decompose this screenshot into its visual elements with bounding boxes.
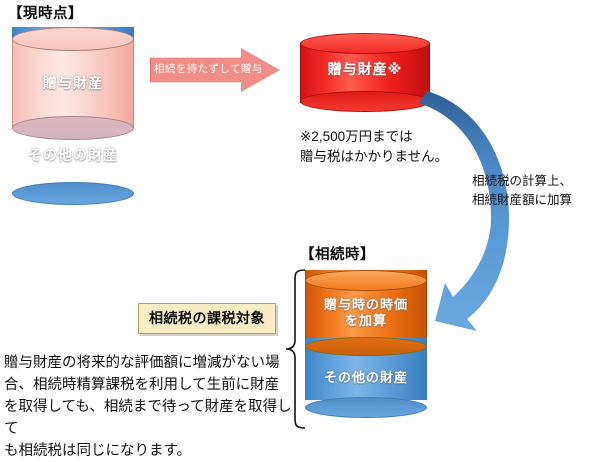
- cylinder-inheritance-divider-ellipse: [305, 337, 427, 356]
- arrow-gift-label: 相続を待たずして贈与: [154, 61, 246, 76]
- heading-at-inheritance: 【相続時】: [300, 243, 375, 264]
- cylinder-current-assets: 贈与財産 その他の財産: [12, 27, 134, 205]
- cylinder-current-divider-ellipse: [12, 116, 134, 140]
- cylinder-current-top-ellipse: [12, 27, 134, 51]
- cylinder-current-gift-body: [12, 38, 134, 128]
- arrow-gift-before-inheritance: 相続を待たずして贈与: [150, 48, 280, 92]
- paragraph-summary: 贈与財産の将来的な評価額に増減がない場 合、相続時精算課税を利用して生前に財産 …: [4, 352, 296, 462]
- cylinder-gift-top-ellipse: [300, 33, 430, 54]
- heading-current-point: 【現時点】: [8, 2, 83, 23]
- cylinder-inheritance-top-ellipse: [305, 270, 427, 291]
- label-inheritance-tax-target: 相続税の課税対象: [138, 303, 276, 334]
- note-added-to-estate: 相続税の計算上、 相続財産額に加算: [472, 172, 572, 210]
- diagram-canvas: 【現時点】 【相続時】 贈与財産 その他の財産 相続を待たずして贈与 贈与財産※…: [0, 0, 603, 449]
- cylinder-inheritance-assets: 贈与時の時価 を加算 その他の財産: [305, 270, 427, 430]
- cylinder-inheritance-bottom-ellipse: [305, 397, 427, 418]
- cylinder-current-bottom-ellipse: [12, 182, 134, 205]
- cylinder-current-other-label: その他の財産: [12, 147, 134, 165]
